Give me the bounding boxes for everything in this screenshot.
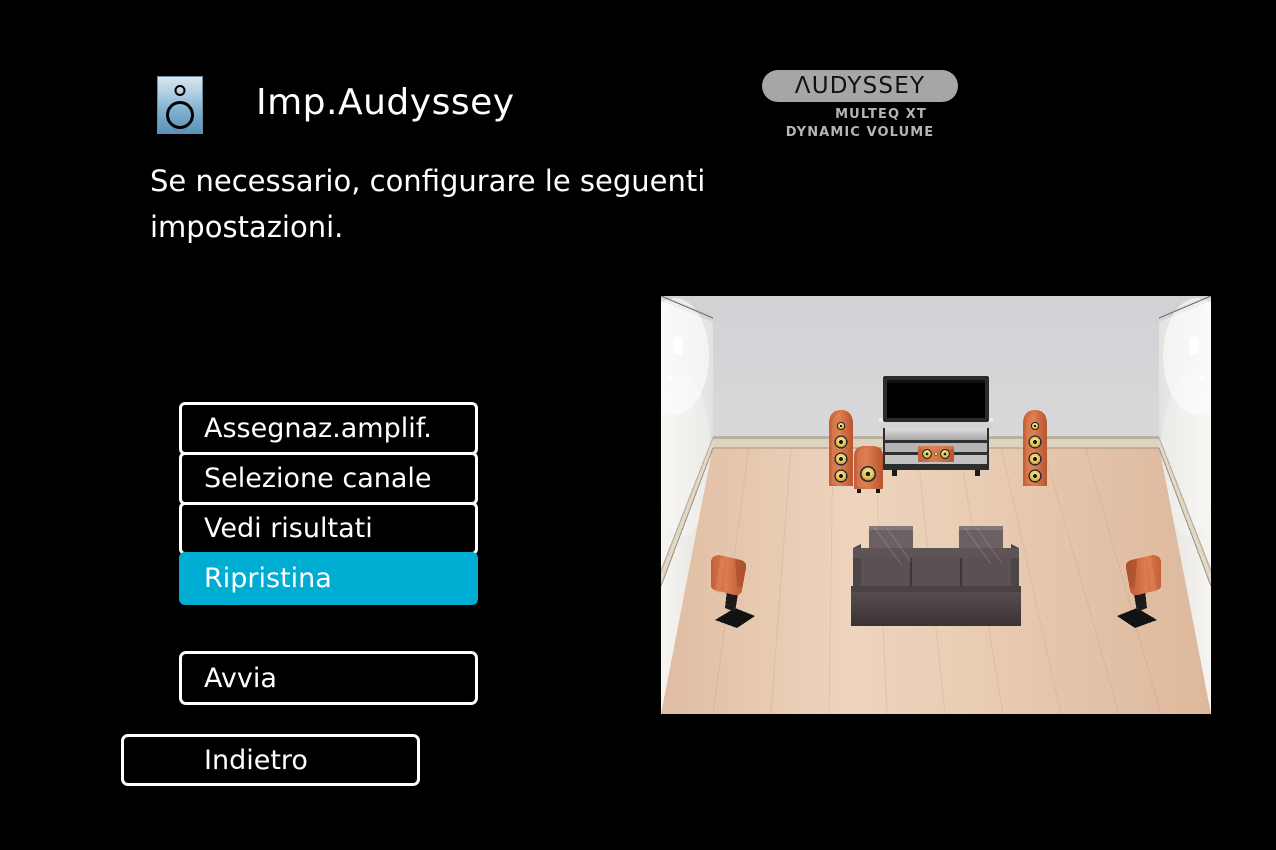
front-left-tower-speaker [829, 410, 853, 486]
audyssey-wordmark: ΛUDYSSEY [795, 75, 925, 98]
audyssey-dynamic-volume-label: DYNAMIC VOLUME [762, 125, 958, 141]
instruction-text: Se necessario, configurare le seguenti i… [150, 158, 810, 250]
menu-item-label: Selezione canale [204, 463, 432, 494]
menu-item-label: Ripristina [204, 563, 332, 594]
speaker-icon [157, 76, 203, 134]
audyssey-logo-pill: ΛUDYSSEY [762, 70, 958, 102]
left-wall-sconce [673, 336, 683, 356]
settings-menu: Assegnaz.amplif. Selezione canale Vedi r… [179, 402, 478, 605]
menu-item-restore[interactable]: Ripristina [179, 552, 478, 605]
menu-item-label: Assegnaz.amplif. [204, 413, 432, 444]
audyssey-logo: ΛUDYSSEY MULTEQ XT DYNAMIC VOLUME [762, 70, 958, 142]
start-button-label: Avvia [204, 663, 277, 694]
speaker-tweeter-icon [175, 85, 186, 96]
right-wall-sconce [1189, 336, 1199, 356]
center-speaker [918, 446, 954, 462]
header: Imp.Audyssey ΛUDYSSEY MULTEQ XT DYNAMIC … [0, 0, 1276, 150]
audyssey-multeq-label: MULTEQ XT [762, 107, 958, 123]
menu-item-label: Vedi risultati [204, 513, 373, 544]
menu-item-view-results[interactable]: Vedi risultati [179, 502, 478, 555]
page-title: Imp.Audyssey [256, 82, 515, 123]
menu-item-channel-select[interactable]: Selezione canale [179, 452, 478, 505]
subwoofer [854, 446, 883, 493]
back-button-label: Indietro [204, 745, 308, 776]
speaker-woofer-icon [166, 101, 194, 129]
audyssey-setup-screen: Imp.Audyssey ΛUDYSSEY MULTEQ XT DYNAMIC … [0, 0, 1276, 850]
television [883, 376, 989, 422]
menu-item-amp-assign[interactable]: Assegnaz.amplif. [179, 402, 478, 455]
start-button[interactable]: Avvia [179, 651, 478, 705]
front-right-tower-speaker [1023, 410, 1047, 486]
back-button[interactable]: Indietro [121, 734, 420, 786]
room-diagram [661, 296, 1211, 714]
